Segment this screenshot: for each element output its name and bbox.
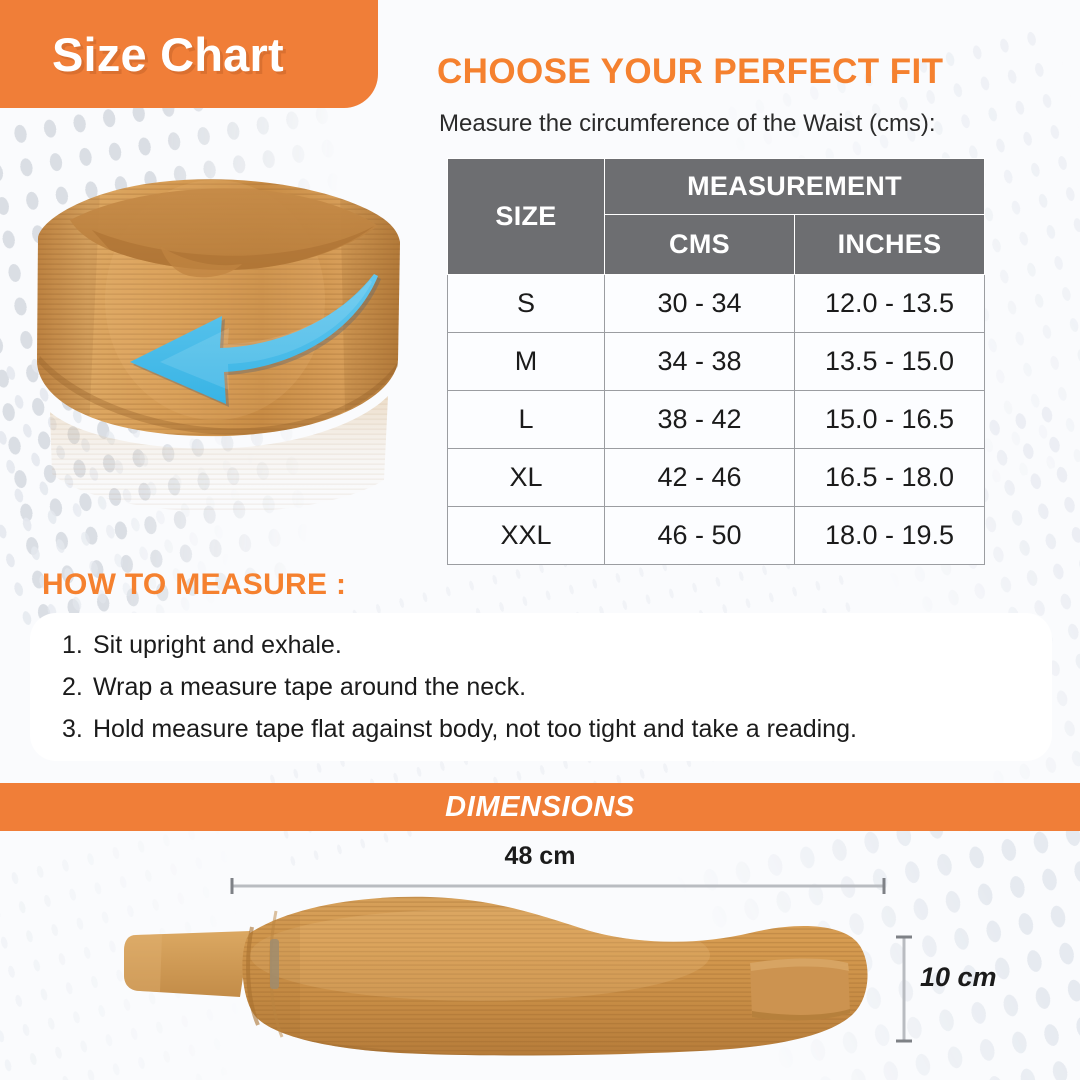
cell-inches: 16.5 - 18.0 bbox=[795, 449, 985, 507]
dimensions-banner: DIMENSIONS bbox=[0, 783, 1080, 831]
list-item: 3. Hold measure tape flat against body, … bbox=[62, 708, 857, 750]
width-measurement-label: 48 cm bbox=[0, 842, 1080, 871]
step-number: 2. bbox=[62, 666, 93, 708]
step-text: Hold measure tape flat against body, not… bbox=[93, 708, 857, 750]
cell-inches: 18.0 - 19.5 bbox=[795, 507, 985, 565]
size-chart-title-tab: Size Chart bbox=[0, 0, 378, 108]
cervical-collar-product-image bbox=[10, 150, 430, 520]
cell-cms: 46 - 50 bbox=[605, 507, 795, 565]
height-measurement-line bbox=[895, 935, 913, 1043]
list-item: 1. Sit upright and exhale. bbox=[62, 624, 857, 666]
height-measurement-label: 10 cm bbox=[920, 962, 997, 993]
cell-inches: 15.0 - 16.5 bbox=[795, 391, 985, 449]
table-row: XXL 46 - 50 18.0 - 19.5 bbox=[448, 507, 985, 565]
buckle-detail bbox=[270, 939, 279, 989]
table-row: XL 42 - 46 16.5 - 18.0 bbox=[448, 449, 985, 507]
how-to-measure-list: 1. Sit upright and exhale. 2. Wrap a mea… bbox=[62, 624, 857, 750]
cell-size: L bbox=[448, 391, 605, 449]
page-title: Size Chart bbox=[52, 27, 284, 82]
column-header-size: SIZE bbox=[448, 159, 605, 275]
step-number: 1. bbox=[62, 624, 93, 666]
size-table-head: SIZE MEASUREMENT CMS INCHES bbox=[448, 159, 985, 275]
width-measurement-line bbox=[230, 877, 886, 895]
table-row: L 38 - 42 15.0 - 16.5 bbox=[448, 391, 985, 449]
how-to-measure-heading: HOW TO MEASURE : bbox=[42, 568, 346, 602]
column-header-measurement: MEASUREMENT bbox=[605, 159, 985, 215]
right-velcro-patch bbox=[750, 959, 850, 1021]
cell-size: M bbox=[448, 333, 605, 391]
size-chart-infographic: Size Chart bbox=[0, 0, 1080, 1080]
cell-size: S bbox=[448, 275, 605, 333]
column-header-inches: INCHES bbox=[795, 215, 985, 275]
cell-size: XL bbox=[448, 449, 605, 507]
list-item: 2. Wrap a measure tape around the neck. bbox=[62, 666, 857, 708]
column-header-cms: CMS bbox=[605, 215, 795, 275]
cell-inches: 13.5 - 15.0 bbox=[795, 333, 985, 391]
table-row: S 30 - 34 12.0 - 13.5 bbox=[448, 275, 985, 333]
fit-heading: CHOOSE YOUR PERFECT FIT bbox=[437, 52, 943, 92]
size-table-body: S 30 - 34 12.0 - 13.5 M 34 - 38 13.5 - 1… bbox=[448, 275, 985, 565]
cervical-collar-flat-image bbox=[100, 885, 900, 1075]
left-strap-tab bbox=[124, 931, 250, 997]
cell-cms: 38 - 42 bbox=[605, 391, 795, 449]
fit-subtitle: Measure the circumference of the Waist (… bbox=[439, 110, 936, 138]
table-row: M 34 - 38 13.5 - 15.0 bbox=[448, 333, 985, 391]
cell-cms: 30 - 34 bbox=[605, 275, 795, 333]
step-number: 3. bbox=[62, 708, 93, 750]
step-text: Wrap a measure tape around the neck. bbox=[93, 666, 526, 708]
cell-cms: 34 - 38 bbox=[605, 333, 795, 391]
cell-cms: 42 - 46 bbox=[605, 449, 795, 507]
size-table: SIZE MEASUREMENT CMS INCHES S 30 - 34 12… bbox=[447, 158, 985, 565]
cell-inches: 12.0 - 13.5 bbox=[795, 275, 985, 333]
cell-size: XXL bbox=[448, 507, 605, 565]
table-header-row-1: SIZE MEASUREMENT bbox=[448, 159, 985, 215]
dimensions-banner-label: DIMENSIONS bbox=[445, 791, 635, 824]
step-text: Sit upright and exhale. bbox=[93, 624, 342, 666]
